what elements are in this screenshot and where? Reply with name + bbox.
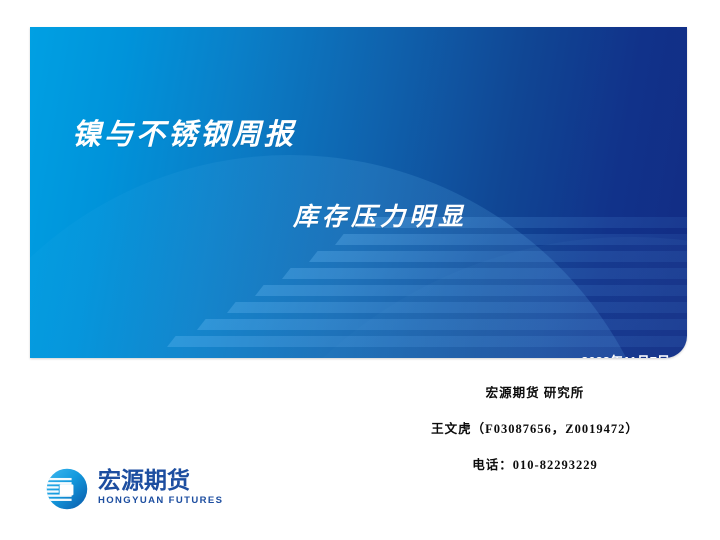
company-logo: 宏源期货 HONGYUAN FUTURES [44,464,224,514]
report-subtitle: 库存压力明显 [293,197,467,233]
analyst-line: 王文虎（F03087656，Z0019472） [380,418,690,437]
banner-stripe [167,336,687,347]
hongyuan-circle-mark-icon [44,466,90,512]
banner-stripe [197,319,687,330]
logo-name-cn: 宏源期货 [98,467,223,493]
contact-block: 宏源期货 研究所 王文虎（F03087656，Z0019472） 电话：010-… [380,382,690,473]
banner-stripe [227,302,687,313]
banner-stripe [335,234,687,245]
banner-stripe [255,285,687,296]
research-institute-line: 宏源期货 研究所 [380,382,690,401]
logo-wordmark: 宏源期货 HONGYUAN FUTURES [98,467,223,506]
report-date: 2023年11月7日 [581,351,670,358]
banner-stripe [309,251,687,262]
banner-stripe [282,268,687,279]
logo-name-en: HONGYUAN FUTURES [98,495,223,506]
title-banner: 镍与不锈钢周报 库存压力明显 2023年11月7日 www.hongyuanqh… [30,27,687,358]
report-title: 镍与不锈钢周报 [72,111,296,153]
phone-line: 电话：010-82293229 [380,454,690,473]
